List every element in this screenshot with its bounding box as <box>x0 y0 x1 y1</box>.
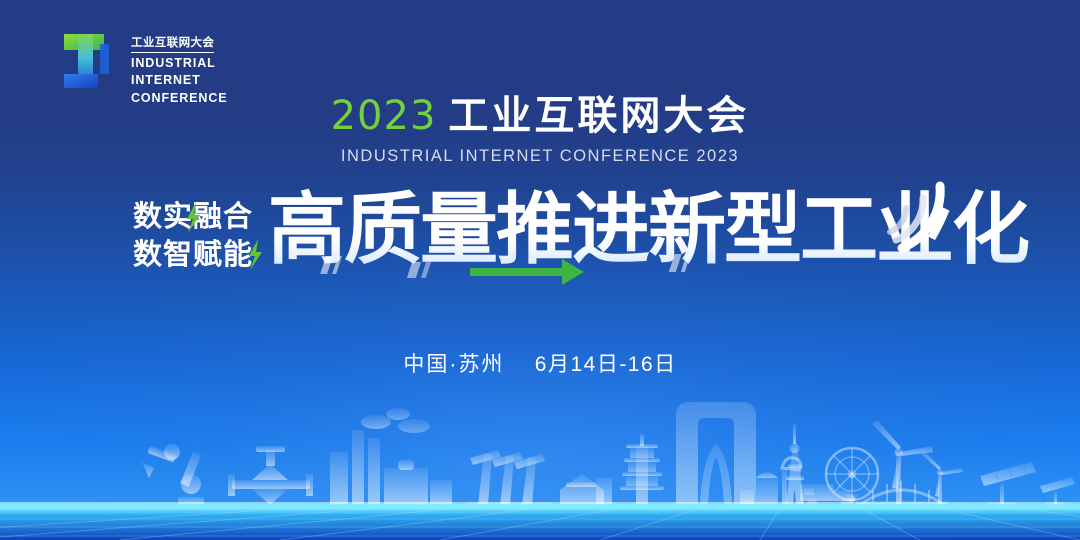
slogan-small-line-2: 数智赋能 <box>133 238 253 271</box>
pipe-valve-icon <box>228 446 313 505</box>
event-meta: 中国·苏州 6月14日-16日 <box>0 348 1080 378</box>
event-location: 中国·苏州 <box>403 353 504 376</box>
skyline-shapes <box>142 408 664 506</box>
title-chinese: 工业互联网大会 <box>448 94 749 138</box>
robot-arm-icon <box>142 444 204 505</box>
logo-english-line-2: INTERNET <box>131 73 228 88</box>
event-date: 6月14日-16日 <box>535 353 677 376</box>
logo-english-line-1: INDUSTRIAL <box>131 56 228 71</box>
skyline-illustration <box>0 380 1080 540</box>
oil-pumpjack-icon <box>466 450 552 506</box>
skyline-shapes-right <box>740 420 1075 508</box>
conference-banner: 工业互联网大会 INDUSTRIAL INTERNET CONFERENCE 2… <box>0 0 1080 540</box>
title-block: 2023工业互联网大会 INDUSTRIAL INTERNET CONFEREN… <box>0 92 1080 166</box>
title-subtitle: INDUSTRIAL INTERNET CONFERENCE 2023 <box>0 147 1080 166</box>
slogan-block: 数实融合 数智赋能 高质量推进新型工业化 <box>0 176 1080 286</box>
solar-panel-icon <box>1040 477 1075 505</box>
slogan-artwork: 数实融合 数智赋能 高质量推进新型工业化 <box>0 176 1080 286</box>
horizon-and-ground <box>0 502 1080 540</box>
gate-of-the-orient-icon <box>676 402 756 505</box>
factory-smokestacks-icon <box>330 408 452 505</box>
chinese-pagoda-icon <box>620 434 664 505</box>
logo-chinese-name: 工业互联网大会 <box>131 36 214 53</box>
solar-panel-icon <box>980 461 1036 506</box>
industrial-internet-conference-logo-icon <box>60 30 122 92</box>
slogan-small-lines: 数实融合 数智赋能 <box>133 199 262 271</box>
low-building-icon <box>560 474 612 505</box>
skyline-svg <box>0 380 1080 540</box>
title-year: 2023 <box>331 93 437 139</box>
page-title: 2023工业互联网大会 <box>0 92 1080 140</box>
